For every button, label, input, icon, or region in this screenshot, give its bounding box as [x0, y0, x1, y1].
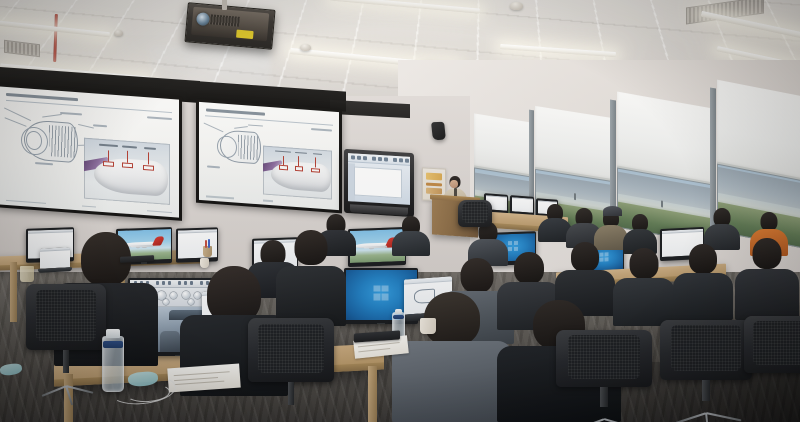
engine-compressor-fins — [238, 135, 258, 160]
task-chair[interactable] — [26, 284, 106, 390]
iwb-document-canvas[interactable] — [354, 166, 402, 198]
bottle-cap[interactable] — [395, 309, 403, 314]
attendee-head — [461, 258, 494, 293]
callout-box — [311, 168, 319, 173]
handout-text-line — [359, 348, 390, 352]
art-color-band — [426, 183, 443, 187]
iwb-tool-icon[interactable] — [363, 156, 367, 160]
windows-logo-pane — [382, 293, 389, 300]
projector-status-label — [236, 30, 254, 39]
drinking-glass[interactable] — [20, 266, 34, 282]
workstation-monitor[interactable] — [176, 227, 218, 262]
windows-logo-pane — [508, 247, 512, 251]
chair-caster-arm — [575, 418, 604, 422]
callout-arrow — [283, 156, 284, 165]
coffee-mug[interactable] — [200, 258, 209, 268]
attendee — [738, 238, 796, 320]
chair-mesh-panel — [36, 290, 97, 341]
chair-base — [26, 372, 106, 390]
baseball-cap — [603, 206, 622, 216]
document-viewer-screen — [512, 197, 533, 213]
cockpit-seat — [160, 331, 179, 352]
iwb-tool-icon[interactable] — [393, 158, 397, 162]
callout-box — [103, 161, 114, 167]
projection-screen-left[interactable] — [0, 83, 182, 221]
document-text-line — [28, 237, 51, 238]
iwb-tool-icon[interactable] — [405, 159, 409, 163]
app-titlebar — [486, 195, 507, 198]
document-text-line — [178, 240, 199, 241]
attendee-torso — [673, 273, 733, 320]
callout-arrow — [315, 157, 316, 167]
callout-box — [143, 164, 153, 170]
task-chair[interactable] — [660, 320, 752, 416]
windows-logo-pane — [514, 247, 518, 251]
document-text-line — [360, 177, 385, 179]
attendee-foreground-right — [398, 292, 506, 422]
chair-caster-arm — [604, 418, 637, 422]
instrument-gauge[interactable] — [170, 292, 177, 299]
slide-footer-left — [6, 200, 46, 205]
document-text-line — [360, 174, 382, 175]
photo-caption-text — [275, 150, 291, 153]
attendee-head — [295, 230, 328, 265]
coffee-mug[interactable] — [420, 318, 436, 334]
chair-mesh-panel — [753, 321, 800, 365]
attendee-cap — [600, 206, 626, 222]
chair-base — [556, 406, 652, 422]
document-text-line — [178, 244, 202, 245]
sim-tool-icon[interactable] — [178, 281, 181, 285]
chair-mesh-panel — [568, 335, 641, 379]
slide-canvas — [0, 86, 179, 217]
callout-label-text — [60, 112, 82, 116]
pen — [208, 239, 210, 248]
photo-caption-text — [122, 145, 137, 148]
slide-header-right-text — [311, 128, 332, 132]
slide-footer-page — [82, 205, 96, 208]
attendee-head — [689, 244, 717, 274]
photo-caption-text — [99, 143, 118, 146]
attendee — [616, 248, 672, 326]
attendee-head — [571, 242, 599, 272]
photo-caption-text — [313, 153, 322, 155]
dimension-text — [35, 162, 53, 165]
interactive-whiteboard[interactable] — [344, 149, 414, 217]
chair-gas-lift — [63, 350, 69, 373]
document-text-line — [28, 244, 48, 245]
handout-text-line — [173, 371, 229, 376]
callout-box — [122, 162, 132, 168]
callout-arrow — [127, 150, 128, 162]
sim-tool-icon[interactable] — [162, 281, 165, 285]
windows-logo-pane — [514, 241, 518, 245]
window-handle[interactable] — [661, 200, 663, 207]
attendee-head — [630, 248, 659, 279]
photo-caption-text — [144, 147, 156, 150]
attendee-torso — [735, 269, 800, 320]
slide-footer-right — [147, 210, 172, 214]
task-chair[interactable] — [458, 200, 492, 244]
app-titlebar — [538, 200, 557, 203]
windows-logo-pane — [508, 241, 512, 245]
chair-gas-lift — [288, 382, 295, 405]
iwb-tool-icon[interactable] — [357, 156, 361, 160]
engine-pylon-line — [204, 122, 224, 132]
engine-pylon-line — [5, 117, 28, 127]
slide-canvas — [199, 102, 339, 210]
attendee-torso — [613, 278, 676, 326]
slide-footer-page — [263, 200, 273, 202]
chair-backrest — [26, 284, 106, 350]
sim-tool-icon[interactable] — [156, 281, 159, 285]
callout-label-text — [93, 124, 107, 127]
slide-header-right-text — [147, 116, 172, 120]
photo-caption-text — [295, 152, 307, 155]
task-chair[interactable] — [556, 330, 652, 422]
windows-logo-icon — [374, 285, 389, 300]
callout-box — [279, 165, 288, 170]
callout-leader — [42, 114, 62, 118]
callout-leader — [234, 126, 248, 129]
art-color-band — [426, 173, 443, 181]
chair-gas-lift — [702, 380, 709, 401]
chair-backrest — [556, 330, 652, 387]
attendee — [394, 216, 428, 256]
chair-backrest — [458, 200, 492, 227]
projection-screen-right[interactable] — [196, 99, 342, 214]
task-chair[interactable] — [248, 318, 334, 422]
handout-text-line — [174, 381, 224, 385]
attendee-torso — [392, 231, 430, 256]
slide-footer-left — [206, 196, 234, 200]
printed-handout[interactable] — [167, 364, 240, 393]
handout-text-line — [358, 342, 400, 347]
instructor-face — [450, 180, 458, 188]
roller-blind[interactable] — [474, 113, 532, 176]
sim-tool-icon[interactable] — [168, 281, 171, 285]
attendee-foreground — [280, 230, 342, 326]
instrument-gauge[interactable] — [163, 299, 169, 305]
desk-leg — [10, 262, 17, 322]
bottle-cap[interactable] — [106, 329, 120, 338]
callout-arrow — [108, 150, 109, 161]
fuselage-photo-inset — [263, 146, 332, 200]
app-titlebar — [512, 197, 533, 200]
bottle-label-band — [103, 341, 123, 347]
attendee-torso — [392, 341, 513, 422]
callout-label-text — [248, 124, 263, 127]
slide-title-rule — [6, 100, 172, 113]
windows-logo-icon — [508, 241, 518, 251]
engine-compressor-fins — [49, 125, 76, 158]
desk-leg — [368, 366, 377, 422]
chair-mesh-panel — [462, 202, 488, 223]
iwb-tool-icon[interactable] — [351, 155, 355, 159]
projector-left[interactable] — [184, 2, 275, 50]
iwb-tool-icon[interactable] — [399, 158, 403, 162]
handout-text-line — [174, 377, 219, 381]
document-text-line — [512, 202, 525, 203]
chair-backrest — [660, 320, 752, 380]
attendee-head — [753, 238, 782, 269]
document-text-line — [28, 241, 57, 242]
iwb-toolbar[interactable] — [348, 153, 410, 166]
callout-arrow — [298, 156, 299, 166]
callout-box — [295, 166, 303, 171]
document-text-line — [662, 237, 687, 238]
chair-backrest — [744, 316, 800, 373]
document-text-line — [40, 255, 58, 256]
pen-holder — [203, 246, 212, 257]
callout-label-text — [207, 165, 220, 168]
callout-arrow — [148, 153, 149, 165]
aircraft-tail-fin — [152, 237, 165, 247]
chair-mesh-panel — [671, 325, 741, 371]
attendee — [676, 244, 730, 320]
engine-fan-ring — [217, 136, 237, 159]
pen — [205, 240, 207, 248]
windows-logo-pane — [374, 285, 381, 292]
iwb-display-surface[interactable] — [348, 153, 410, 205]
callout-leader — [78, 124, 94, 129]
document-text-line — [662, 241, 682, 242]
iwb-tool-icon[interactable] — [384, 157, 388, 161]
windows-logo-pane — [382, 285, 389, 292]
aircraft-engine — [369, 247, 374, 249]
monitor-screen[interactable] — [512, 197, 533, 213]
chair-base — [660, 400, 752, 416]
windows-logo-pane — [374, 293, 381, 300]
chair-gas-lift — [600, 387, 608, 407]
aircraft-wing — [363, 246, 387, 249]
classroom-photo-scene — [0, 0, 800, 422]
fuselage-photo-inset — [84, 137, 170, 205]
attendee-head — [514, 252, 544, 284]
chair-mesh-panel — [258, 324, 323, 374]
iwb-tool-icon[interactable] — [372, 157, 376, 161]
projector-mount-bracket-left — [222, 0, 227, 10]
iwb-tool-icon[interactable] — [378, 157, 382, 161]
document-text-line — [178, 237, 205, 238]
slide-title-text — [206, 109, 265, 116]
task-chair[interactable] — [744, 316, 800, 408]
app-titlebar — [662, 228, 703, 234]
monitor-stand — [377, 323, 386, 324]
bottle-label-band — [393, 315, 404, 319]
wall-mounted-loudspeaker — [431, 122, 446, 140]
app-titlebar — [178, 229, 217, 234]
document-text-line — [360, 172, 389, 174]
window-handle[interactable] — [574, 193, 576, 200]
slide-title-rule — [205, 115, 334, 125]
chair-backrest — [248, 318, 334, 382]
